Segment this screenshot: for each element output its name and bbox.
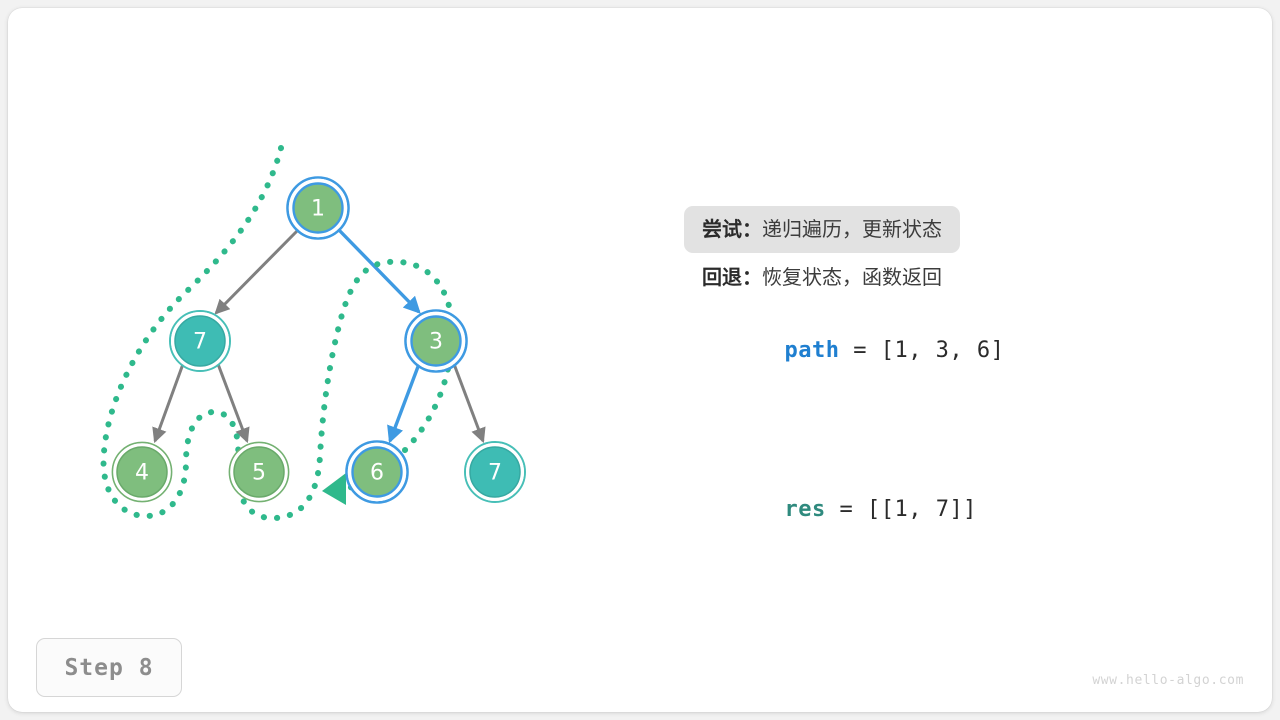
- backtrack-description: 恢复状态，函数返回: [762, 265, 942, 289]
- explanation-panel: 尝试：递归遍历，更新状态 回退：恢复状态，函数返回 path = [1, 3, …: [684, 206, 1144, 547]
- backtrack-keyword: 回退：: [702, 265, 762, 289]
- site-watermark: www.hello-algo.com: [1092, 673, 1244, 688]
- tree-node-3[interactable]: 3: [406, 311, 467, 372]
- res-variable-name: res: [784, 497, 825, 522]
- screenshot-root: 1 7 3 4: [0, 0, 1280, 720]
- tree-node-7-right[interactable]: 7: [465, 442, 525, 502]
- tree-node-4[interactable]: 4: [113, 443, 172, 502]
- node-3-value: 3: [429, 330, 443, 355]
- tree-node-5[interactable]: 5: [230, 443, 289, 502]
- edge-7l-to-5: [218, 364, 247, 441]
- traversal-cursor-triangle: [322, 473, 346, 505]
- try-description: 递归遍历，更新状态: [762, 217, 942, 241]
- tree-node-6[interactable]: 6: [347, 442, 408, 503]
- try-line-highlight: 尝试：递归遍历，更新状态: [684, 206, 960, 253]
- node-4-value: 4: [135, 461, 149, 486]
- path-variable-line: path = [1, 3, 6]: [684, 313, 1144, 388]
- try-keyword: 尝试：: [702, 217, 762, 241]
- path-variable-name: path: [784, 338, 839, 363]
- node-5-value: 5: [252, 461, 266, 486]
- edge-7l-to-4: [155, 364, 183, 441]
- step-label: Step 8: [64, 655, 153, 681]
- path-variable-value: = [1, 3, 6]: [839, 338, 1004, 363]
- step-badge: Step 8: [36, 638, 182, 697]
- try-line-wrapper: 尝试：递归遍历，更新状态: [684, 206, 1144, 253]
- node-6-value: 6: [370, 461, 384, 486]
- node-7l-value: 7: [193, 330, 207, 355]
- node-7r-value: 7: [488, 461, 502, 486]
- edge-3-to-7r: [454, 364, 483, 441]
- edge-1-to-3: [338, 229, 419, 312]
- res-variable-line: res = [[1, 7]]: [684, 472, 1144, 547]
- tree-nodes: 1 7 3 4: [113, 178, 526, 503]
- backtrack-line: 回退：恢复状态，函数返回: [684, 253, 1144, 301]
- res-variable-value: = [[1, 7]]: [826, 497, 977, 522]
- edge-3-to-6: [390, 364, 419, 441]
- tree-node-7-left[interactable]: 7: [170, 311, 230, 371]
- tree-node-1[interactable]: 1: [288, 178, 349, 239]
- node-1-value: 1: [311, 197, 325, 222]
- edge-1-to-7l: [216, 229, 299, 313]
